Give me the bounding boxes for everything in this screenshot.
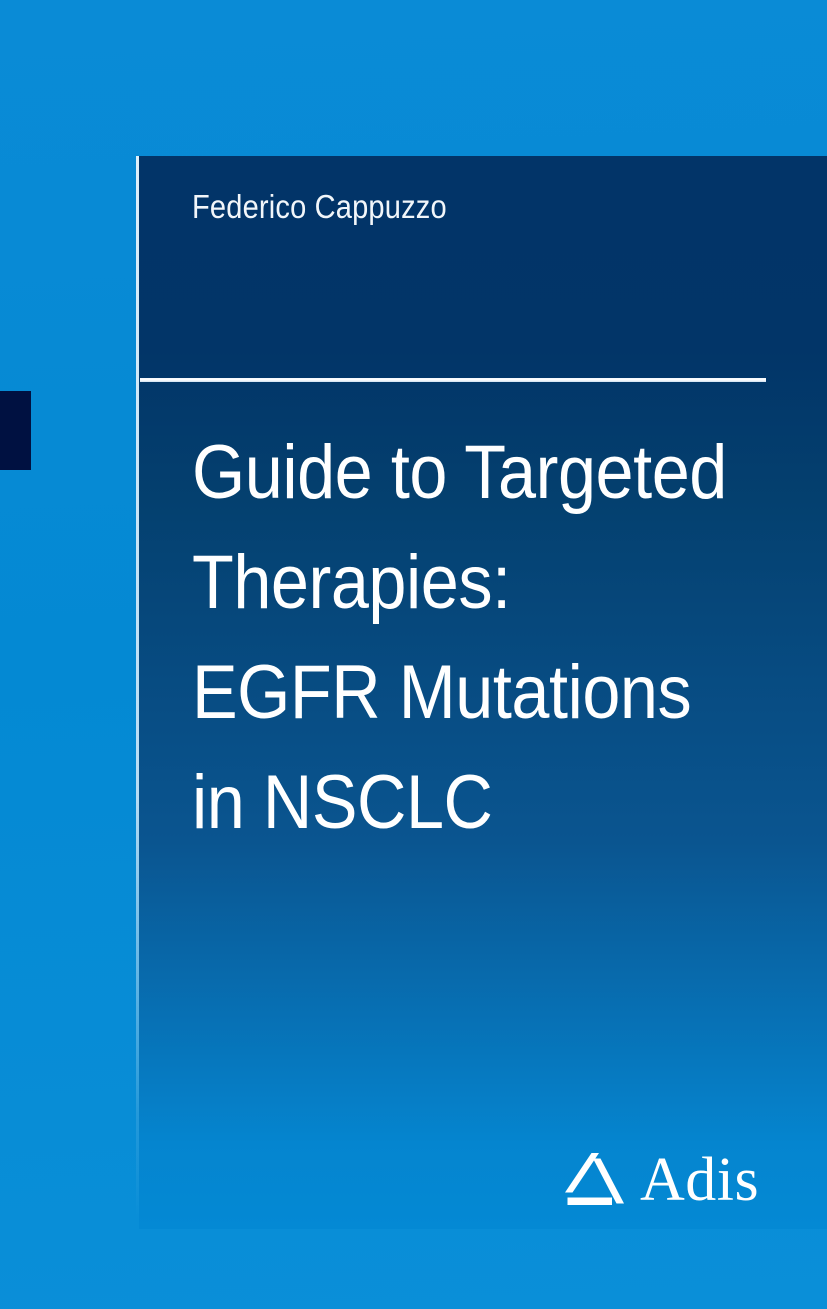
title-line-2: Therapies: bbox=[192, 528, 732, 638]
header-divider bbox=[140, 378, 766, 382]
author-name: Federico Cappuzzo bbox=[192, 186, 447, 228]
triangle-icon bbox=[562, 1151, 624, 1209]
panel-left-edge-stripe bbox=[136, 156, 139, 1220]
publisher-logo: Adis bbox=[562, 1144, 759, 1216]
publisher-name: Adis bbox=[640, 1149, 759, 1211]
accent-block bbox=[0, 391, 31, 470]
title-line-1: Guide to Targeted bbox=[192, 418, 732, 528]
book-title: Guide to Targeted Therapies: EGFR Mutati… bbox=[192, 418, 792, 858]
book-cover: Federico Cappuzzo Guide to Targeted Ther… bbox=[0, 0, 827, 1309]
title-line-3: EGFR Mutations bbox=[192, 638, 732, 748]
title-line-4: in NSCLC bbox=[192, 748, 732, 858]
